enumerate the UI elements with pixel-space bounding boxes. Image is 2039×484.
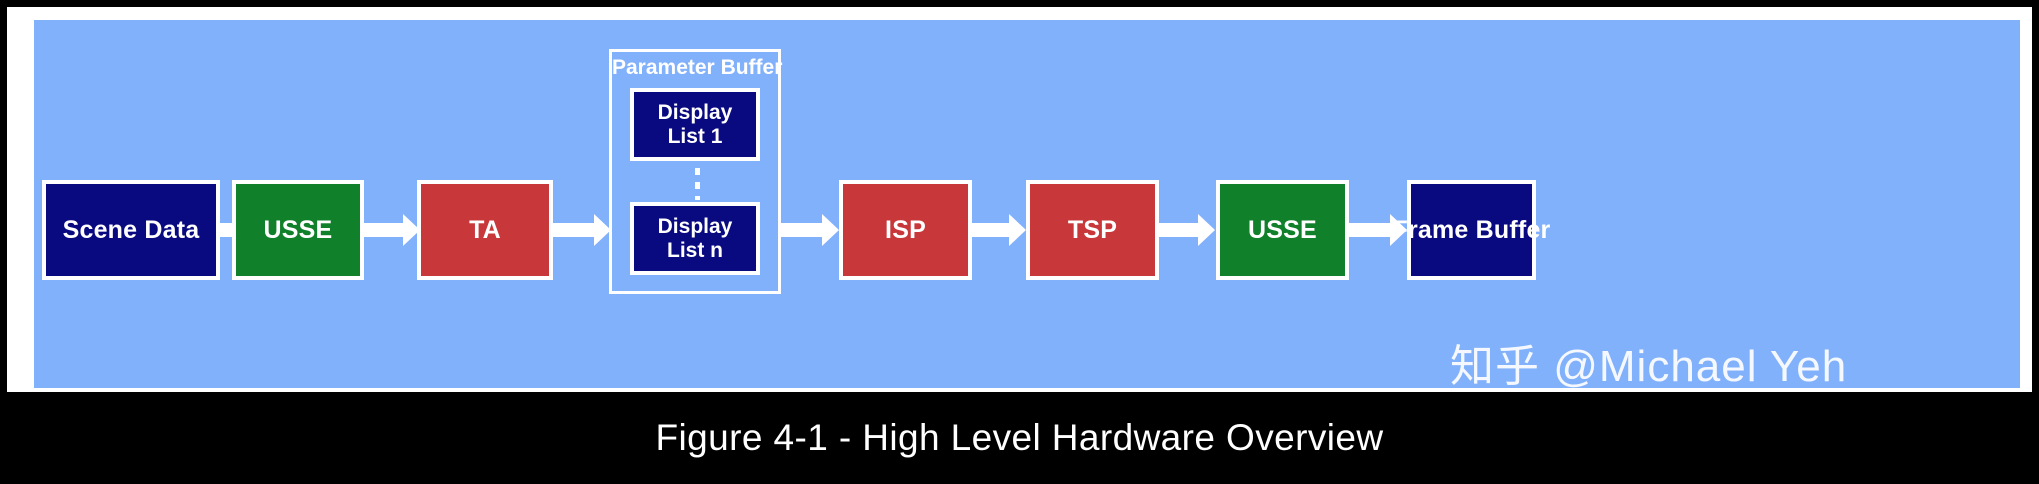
node-isp-label: ISP (885, 217, 926, 244)
arrow-usse-to-frame-buffer (1349, 223, 1391, 237)
node-tsp: TSP (1026, 180, 1159, 280)
parameter-buffer-group: Parameter Buffer Display List 1 Display … (609, 49, 781, 294)
node-ta-label: TA (469, 217, 501, 244)
arrow-parameter-buffer-to-isp (781, 223, 823, 237)
arrow-ta-to-parameter-buffer (553, 223, 595, 237)
arrow-usse-to-ta (364, 223, 404, 237)
node-ta: TA (417, 180, 553, 280)
figure-page: Scene Data USSE TA Parameter Buffer Disp… (0, 0, 2039, 484)
display-list-n: Display List n (630, 202, 760, 275)
display-list-n-line1: Display (658, 215, 733, 239)
node-tsp-label: TSP (1068, 217, 1117, 244)
display-list-n-line2: List n (667, 239, 723, 263)
node-scene-data: Scene Data (42, 180, 220, 280)
figure-frame: Scene Data USSE TA Parameter Buffer Disp… (7, 7, 2032, 392)
node-usse-second: USSE (1216, 180, 1349, 280)
display-list-1-line1: Display (658, 101, 733, 125)
figure-caption-bar: Figure 4-1 - High Level Hardware Overvie… (0, 392, 2039, 484)
display-list-1-line2: List 1 (668, 125, 723, 149)
node-frame-buffer-label: Frame Buffer (1393, 217, 1551, 244)
node-scene-data-label: Scene Data (63, 217, 200, 244)
arrow-isp-to-tsp (972, 223, 1010, 237)
display-list-ellipsis-dashes (695, 168, 700, 200)
node-usse-second-label: USSE (1248, 217, 1317, 244)
node-isp: ISP (839, 180, 972, 280)
node-frame-buffer: Frame Buffer (1407, 180, 1536, 280)
diagram-canvas: Scene Data USSE TA Parameter Buffer Disp… (34, 20, 2020, 388)
display-list-1: Display List 1 (630, 88, 760, 161)
figure-caption-text: Figure 4-1 - High Level Hardware Overvie… (656, 417, 1384, 459)
arrow-tsp-to-usse (1159, 223, 1199, 237)
parameter-buffer-title: Parameter Buffer (612, 56, 778, 80)
node-usse-first-label: USSE (264, 217, 333, 244)
node-usse-first: USSE (232, 180, 364, 280)
